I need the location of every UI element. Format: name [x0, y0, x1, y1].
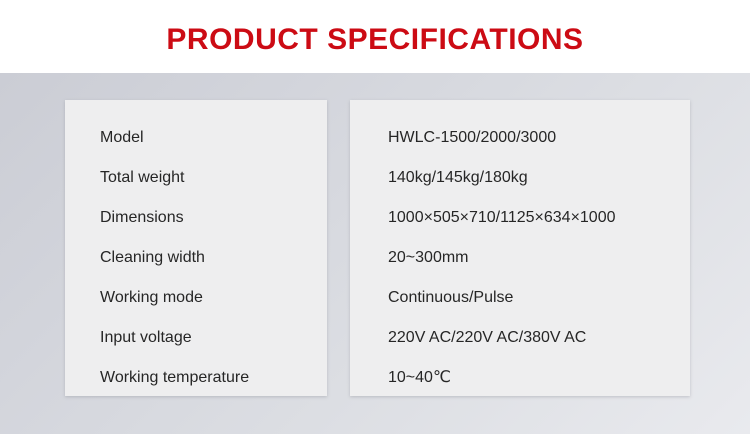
spec-label-cleaning-width: Cleaning width — [100, 238, 362, 278]
spec-value-list: HWLC-1500/2000/3000 140kg/145kg/180kg 10… — [350, 100, 728, 398]
spec-label-working-mode: Working mode — [100, 278, 362, 318]
spec-value-model: HWLC-1500/2000/3000 — [388, 118, 728, 158]
spec-value-cleaning-width: 20~300mm — [388, 238, 728, 278]
product-specifications-page: PRODUCT SPECIFICATIONS Model Total weigh… — [0, 0, 750, 434]
spec-label-working-temperature: Working temperature — [100, 358, 362, 398]
spec-label-input-voltage: Input voltage — [100, 318, 362, 358]
spec-value-panel: HWLC-1500/2000/3000 140kg/145kg/180kg 10… — [350, 100, 690, 396]
spec-label-panel: Model Total weight Dimensions Cleaning w… — [65, 100, 327, 396]
spec-label-model: Model — [100, 118, 362, 158]
spec-label-list: Model Total weight Dimensions Cleaning w… — [65, 100, 362, 398]
spec-value-dimensions: 1000×505×710/1125×634×1000 — [388, 198, 728, 238]
spec-value-total-weight: 140kg/145kg/180kg — [388, 158, 728, 198]
spec-value-working-mode: Continuous/Pulse — [388, 278, 728, 318]
spec-value-input-voltage: 220V AC/220V AC/380V AC — [388, 318, 728, 358]
spec-label-dimensions: Dimensions — [100, 198, 362, 238]
spec-value-working-temperature: 10~40℃ — [388, 358, 728, 398]
spec-label-total-weight: Total weight — [100, 158, 362, 198]
page-title: PRODUCT SPECIFICATIONS — [0, 23, 750, 57]
